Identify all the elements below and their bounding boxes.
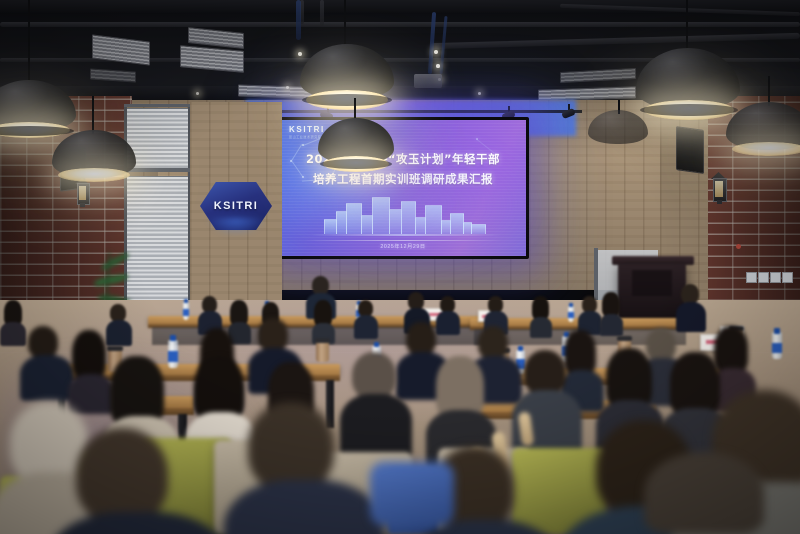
screen-skyline-graphic — [322, 194, 487, 234]
ceiling-pipe — [0, 22, 800, 27]
wall-switch[interactable] — [746, 272, 757, 283]
water-bottle — [568, 306, 574, 322]
screen-logo-subtitle: 昆山工业技术研究院 — [289, 135, 321, 139]
projector-box — [414, 74, 442, 88]
track-rail — [242, 110, 582, 113]
window-blinds-left-lower — [126, 176, 192, 308]
window-frame — [124, 104, 192, 107]
wall-switch[interactable] — [782, 272, 793, 283]
ceiling-downlight — [436, 64, 440, 68]
coffee-cup — [316, 342, 329, 362]
seat-cushion — [370, 462, 454, 526]
water-bottle — [772, 332, 782, 359]
wall-switch[interactable] — [758, 272, 769, 283]
water-bottle — [168, 340, 178, 368]
presentation-screen: KSITRI 昆山工业技术研究院 2025年工研院“攻玉计划”年轻干部 培养工程… — [277, 117, 529, 259]
ceiling-downlight — [478, 92, 481, 95]
ceiling-pipe-blue — [296, 0, 301, 40]
wall-indicator — [736, 244, 741, 249]
conference-room-photo: KSITRI 昆山工业技术研究院 2025年工研院“攻玉计划”年轻干部 培养工程… — [0, 0, 800, 534]
scarf — [644, 452, 764, 534]
screen-ground-line — [310, 234, 500, 236]
ceiling-downlight — [286, 86, 289, 89]
ceiling-pipe — [320, 0, 324, 26]
screen-title-line-1: 2025年工研院“攻玉计划”年轻干部 — [280, 151, 526, 167]
screen-title-line-2: 培养工程首期实训班调研成果汇报 — [280, 171, 526, 187]
ceiling-downlight — [298, 52, 302, 56]
screen-date: 2025年12月29日 — [280, 243, 526, 250]
wall-logo-underglow — [206, 218, 266, 236]
wall-switch[interactable] — [770, 272, 781, 283]
wall-logo-text: KSITRI — [214, 200, 258, 212]
ceiling-downlight — [196, 92, 199, 95]
water-bottle — [183, 302, 189, 320]
wall-speaker-right — [676, 126, 704, 174]
window-frame — [124, 168, 192, 172]
screen-logo: KSITRI — [289, 125, 325, 134]
ceiling-downlight — [434, 50, 438, 54]
